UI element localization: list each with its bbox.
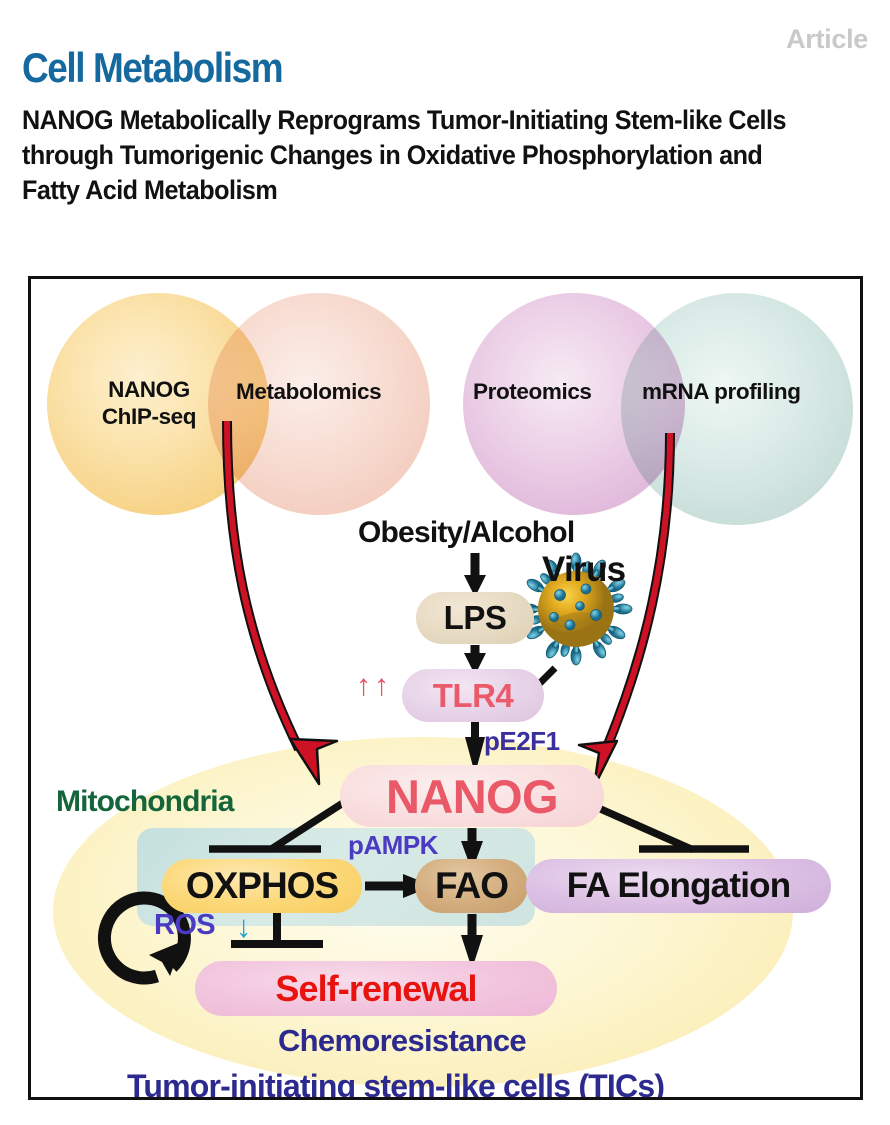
node-fa-elongation-label: FA Elongation <box>567 866 791 906</box>
omics-circle-mrna-profiling <box>621 293 853 525</box>
figure-canvas: NANOG ChIP-seq Metabolomics Proteomics m… <box>31 279 860 1097</box>
label-tics: Tumor-initiating stem-like cells (TICs) <box>127 1068 664 1100</box>
node-fao: FAO <box>415 859 528 913</box>
node-self-renewal-label: Self-renewal <box>275 968 476 1010</box>
omics-circle-label-proteomics: Proteomics <box>473 379 592 405</box>
node-oxphos-label: OXPHOS <box>186 865 338 907</box>
article-type-tag: Article <box>786 24 868 55</box>
node-fao-label: FAO <box>435 865 508 907</box>
page-title: NANOG Metabolically Reprograms Tumor-Ini… <box>22 103 820 209</box>
node-lps-label: LPS <box>444 599 507 637</box>
journal-title: Cell Metabolism <box>22 44 282 92</box>
header: Article Cell Metabolism NANOG Metabolica… <box>0 0 890 262</box>
node-fa-elongation: FA Elongation <box>526 859 831 913</box>
node-nanog-label: NANOG <box>386 769 558 824</box>
label-pe2f1: pE2F1 <box>484 726 560 757</box>
omics-circle-label-metabolomics: Metabolomics <box>236 379 381 405</box>
node-self-renewal: Self-renewal <box>195 961 557 1016</box>
label-chemoresistance: Chemoresistance <box>278 1023 526 1059</box>
node-oxphos: OXPHOS <box>162 859 362 913</box>
label-pampk: pAMPK <box>348 830 438 861</box>
arrow-obesity-to-lps <box>464 553 486 597</box>
omics-circle-label: NANOG ChIP-seq <box>102 377 196 430</box>
omics-circle-label-mrna-profiling: mRNA profiling <box>642 379 801 405</box>
ros-downregulation-arrow-icon: ↓ <box>236 911 252 942</box>
label-virus: Virus <box>542 550 625 590</box>
node-tlr4-label: TLR4 <box>433 677 514 715</box>
tlr4-upregulation-arrows-icon: ↑↑ <box>356 671 392 701</box>
node-tlr4: TLR4 <box>402 669 544 722</box>
graphical-abstract-figure: NANOG ChIP-seq Metabolomics Proteomics m… <box>28 276 863 1100</box>
label-ros: ROS <box>154 909 215 942</box>
node-nanog: NANOG <box>340 765 604 827</box>
node-lps: LPS <box>416 592 534 644</box>
label-mitochondria: Mitochondria <box>56 785 234 819</box>
label-obesity-alcohol: Obesity/Alcohol <box>358 516 574 550</box>
